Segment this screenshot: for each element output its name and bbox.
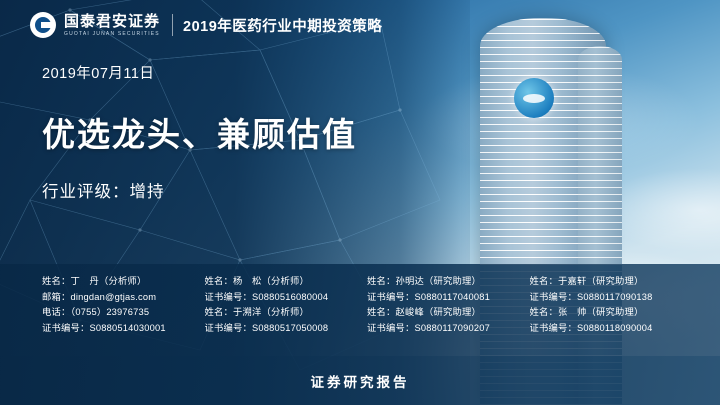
author-line: 姓名：赵峻峰（研究助理） [367,305,530,321]
author-line: 邮箱：dingdan@gtjas.com [42,290,205,306]
author-line: 证书编号：S0880118090004 [530,321,693,337]
publish-date: 2019年07月11日 [42,62,154,83]
author-line: 证书编号：S0880517050008 [205,321,368,337]
author-line: 姓名：张 帅（研究助理） [530,305,693,321]
logo-english-name: GUOTAI JUNAN SECURITIES [64,32,160,37]
author-column-1: 姓名：丁 丹（分析师） 邮箱：dingdan@gtjas.com 电话：（075… [42,274,205,350]
footer-label: 证券研究报告 [0,371,720,391]
author-column-2: 姓名：杨 松（分析师） 证书编号：S0880516080004 姓名：于溯洋（分… [205,274,368,350]
author-column-4: 姓名：于嘉轩（研究助理） 证书编号：S0880117090138 姓名：张 帅（… [530,274,693,350]
guotai-junan-logo-icon [30,12,56,38]
slide-header: 国泰君安证券 GUOTAI JUNAN SECURITIES 2019年医药行业… [0,8,382,42]
author-line: 姓名：于嘉轩（研究助理） [530,274,693,290]
author-line: 电话：（0755）23976735 [42,305,205,321]
authors-block: 姓名：丁 丹（分析师） 邮箱：dingdan@gtjas.com 电话：（075… [0,268,720,350]
header-divider [172,14,173,36]
author-line: 证书编号：S0880117090207 [367,321,530,337]
author-line: 姓名：杨 松（分析师） [205,274,368,290]
presentation-cover-slide: 国泰君安证券 GUOTAI JUNAN SECURITIES 2019年医药行业… [0,0,720,405]
author-column-3: 姓名：孙明达（研究助理） 证书编号：S0880117040081 姓名：赵峻峰（… [367,274,530,350]
logo-text: 国泰君安证券 GUOTAI JUNAN SECURITIES [64,14,160,37]
author-line: 证书编号：S0880516080004 [205,290,368,306]
author-line: 姓名：孙明达（研究助理） [367,274,530,290]
page-title: 优选龙头、兼顾估值 [42,108,357,156]
author-line: 证书编号：S0880514030001 [42,321,205,337]
author-line: 证书编号：S0880117090138 [530,290,693,306]
author-line: 姓名：于溯洋（分析师） [205,305,368,321]
logo-chinese-name: 国泰君安证券 [64,14,160,29]
company-logo: 国泰君安证券 GUOTAI JUNAN SECURITIES [0,12,160,38]
author-line: 姓名：丁 丹（分析师） [42,274,205,290]
building-logo-icon [514,78,554,118]
author-line: 证书编号：S0880117040081 [367,290,530,306]
industry-rating: 行业评级：增持 [42,178,165,202]
report-series-title: 2019年医药行业中期投资策略 [183,15,382,36]
